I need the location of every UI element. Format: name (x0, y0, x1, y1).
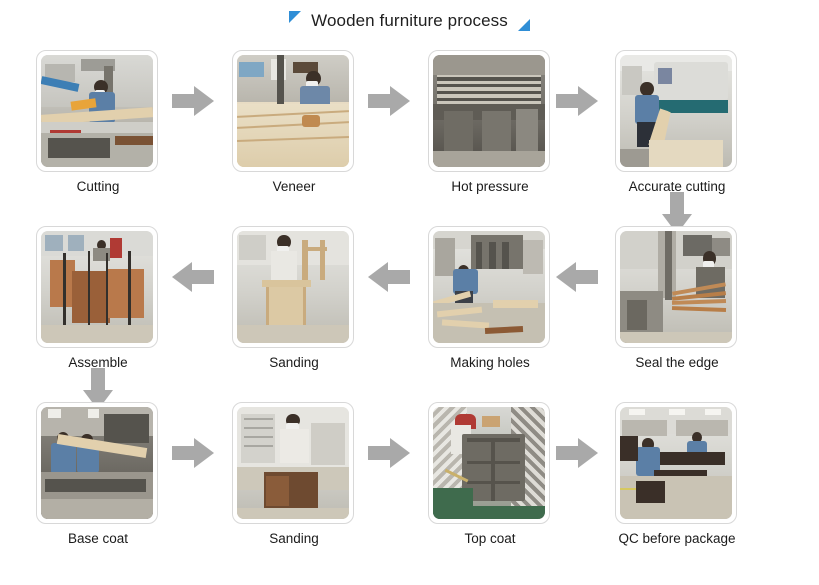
photo-sanding-2 (237, 407, 349, 519)
arrow-right-icon (556, 86, 598, 116)
photo-assemble (41, 231, 153, 343)
arrow-left-icon (368, 262, 410, 292)
arrow-left-icon (172, 262, 214, 292)
photo-qc-before-package (620, 407, 732, 519)
photo-hot-pressure (433, 55, 545, 167)
process-step-assemble[interactable]: Assemble (36, 226, 160, 370)
process-step-accurate-cutting[interactable]: Accurate cutting (615, 50, 739, 194)
photo-frame (36, 402, 158, 524)
process-row-2: Assemble (0, 216, 819, 392)
process-step-base-coat[interactable]: Base coat (36, 402, 160, 546)
photo-accurate-cutting (620, 55, 732, 167)
arrow-right-icon (172, 86, 214, 116)
arrow-right-icon (368, 438, 410, 468)
arrow-left-icon (556, 262, 598, 292)
process-step-sanding-1[interactable]: Sanding (232, 226, 356, 370)
page-title-bar: Wooden furniture process (0, 6, 819, 36)
step-label: Making holes (428, 355, 552, 370)
arrow-right-icon (368, 86, 410, 116)
photo-making-holes (433, 231, 545, 343)
process-step-veneer[interactable]: Veneer (232, 50, 356, 194)
photo-sanding-1 (237, 231, 349, 343)
process-step-hot-pressure[interactable]: Hot pressure (428, 50, 552, 194)
photo-frame (232, 50, 354, 172)
process-step-cutting[interactable]: Cutting (36, 50, 160, 194)
photo-frame (615, 50, 737, 172)
step-label: Sanding (232, 531, 356, 546)
photo-cutting (41, 55, 153, 167)
photo-frame (615, 226, 737, 348)
process-step-top-coat[interactable]: Top coat (428, 402, 552, 546)
photo-frame (232, 226, 354, 348)
photo-veneer (237, 55, 349, 167)
page-title: Wooden furniture process (311, 11, 508, 31)
step-label: Cutting (36, 179, 160, 194)
process-step-seal-the-edge[interactable]: Seal the edge (615, 226, 739, 370)
process-row-3: Base coat (0, 392, 819, 568)
photo-frame (615, 402, 737, 524)
triangle-left-icon (289, 11, 301, 23)
step-label: Hot pressure (428, 179, 552, 194)
photo-frame (428, 226, 550, 348)
arrow-right-icon (556, 438, 598, 468)
photo-base-coat (41, 407, 153, 519)
photo-seal-the-edge (620, 231, 732, 343)
step-label: Base coat (36, 531, 160, 546)
triangle-right-icon (518, 19, 530, 31)
process-flow: Cutting (0, 40, 819, 568)
step-label: Top coat (428, 531, 552, 546)
process-step-qc-before-package[interactable]: QC before package (615, 402, 739, 546)
arrow-right-icon (172, 438, 214, 468)
step-label: Seal the edge (615, 355, 739, 370)
step-label: Sanding (232, 355, 356, 370)
photo-frame (36, 50, 158, 172)
step-label: Veneer (232, 179, 356, 194)
photo-frame (428, 402, 550, 524)
photo-frame (232, 402, 354, 524)
photo-frame (428, 50, 550, 172)
photo-top-coat (433, 407, 545, 519)
step-label: QC before package (615, 531, 739, 546)
process-step-sanding-2[interactable]: Sanding (232, 402, 356, 546)
process-step-making-holes[interactable]: Making holes (428, 226, 552, 370)
photo-frame (36, 226, 158, 348)
process-row-1: Cutting (0, 40, 819, 216)
